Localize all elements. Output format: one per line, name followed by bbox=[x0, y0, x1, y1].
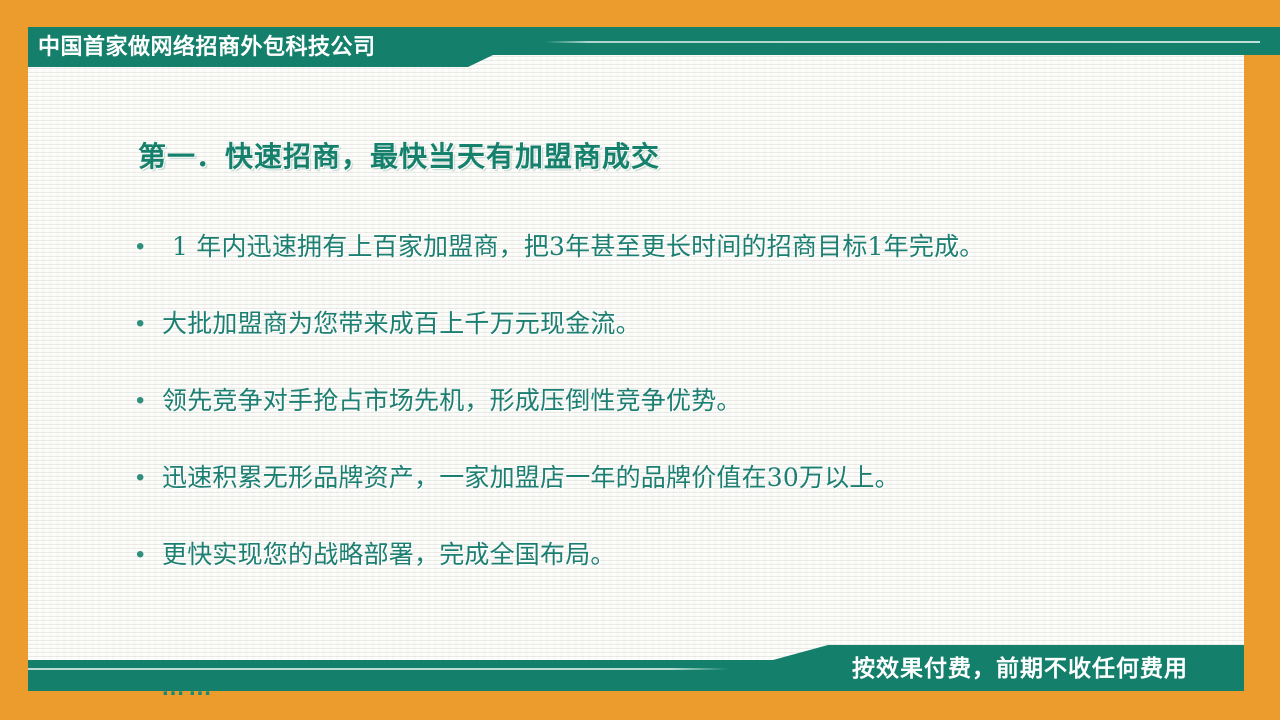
list-item-label: 领先竞争对手抢占市场先机，形成压倒性竞争优势。 bbox=[162, 384, 742, 418]
header-accent-line bbox=[545, 41, 1260, 43]
footer-accent-line bbox=[28, 668, 728, 670]
bullet-marker-icon: • bbox=[136, 538, 162, 572]
footer-tagline: 按效果付费，前期不收任何费用 bbox=[852, 648, 1188, 688]
slide: 中国首家做网络招商外包科技公司 第一．快速招商，最快当天有加盟商成交 • 1 年… bbox=[0, 0, 1280, 720]
list-item-label: 迅速积累无形品牌资产，一家加盟店一年的品牌价值在30万以上。 bbox=[162, 461, 900, 495]
bullet-marker-icon: • bbox=[136, 307, 162, 341]
bullet-marker-icon: • bbox=[136, 384, 162, 418]
header-title: 中国首家做网络招商外包科技公司 bbox=[38, 30, 376, 64]
list-item-label: 更快实现您的战略部署，完成全国布局。 bbox=[162, 538, 616, 572]
list-item-label: 1 年内迅速拥有上百家加盟商，把3年甚至更长时间的招商目标1年完成。 bbox=[162, 230, 984, 264]
list-item-label: 大批加盟商为您带来成百上千万元现金流。 bbox=[162, 307, 641, 341]
list-item: • 领先竞争对手抢占市场先机，形成压倒性竞争优势。 bbox=[136, 384, 1236, 461]
main-content: 第一．快速招商，最快当天有加盟商成交 • 1 年内迅速拥有上百家加盟商，把3年甚… bbox=[28, 70, 1244, 640]
list-item: • 迅速积累无形品牌资产，一家加盟店一年的品牌价值在30万以上。 bbox=[136, 461, 1236, 538]
page-title: 第一．快速招商，最快当天有加盟商成交 bbox=[138, 135, 660, 175]
list-item: • 大批加盟商为您带来成百上千万元现金流。 bbox=[136, 307, 1236, 384]
bullet-list: • 1 年内迅速拥有上百家加盟商，把3年甚至更长时间的招商目标1年完成。 • 大… bbox=[136, 230, 1236, 615]
bullet-marker-icon: • bbox=[136, 461, 162, 495]
bullet-marker-icon: • bbox=[136, 230, 162, 264]
list-item: • 更快实现您的战略部署，完成全国布局。 bbox=[136, 538, 1236, 615]
list-item: • 1 年内迅速拥有上百家加盟商，把3年甚至更长时间的招商目标1年完成。 bbox=[136, 230, 1236, 307]
